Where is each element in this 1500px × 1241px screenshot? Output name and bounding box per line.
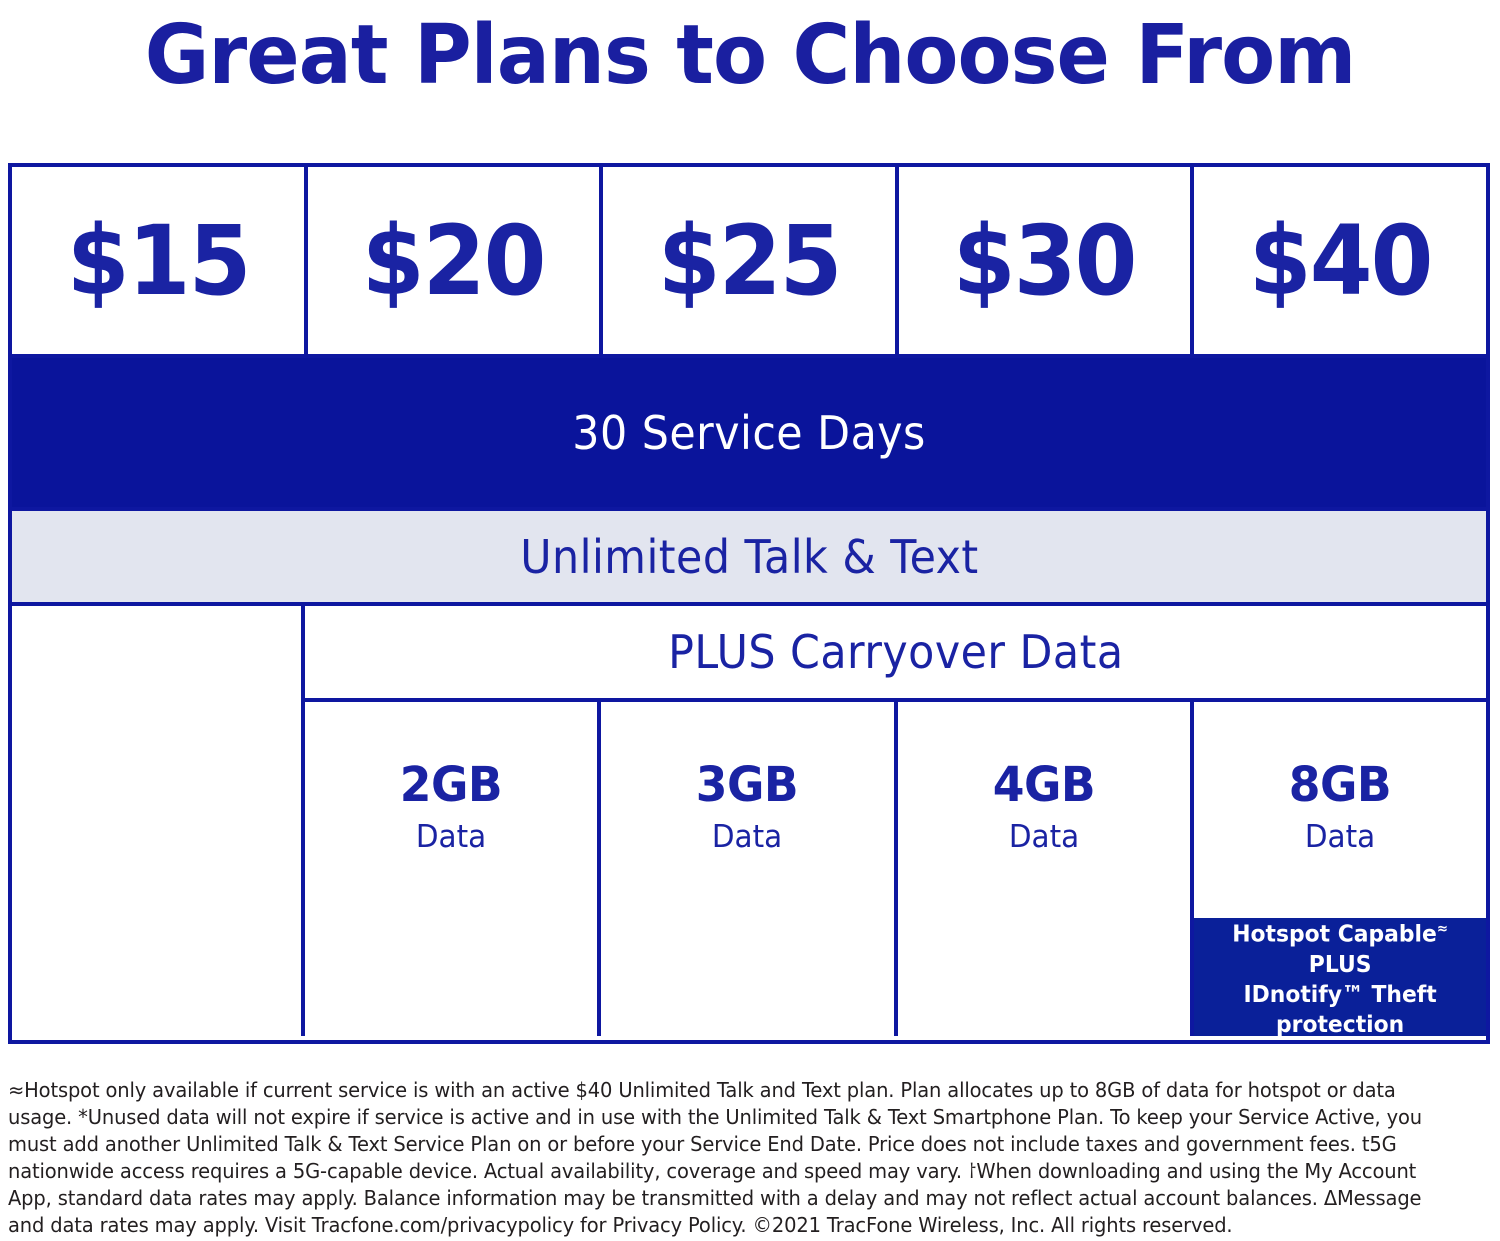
data-amount-row: 2GB Data 3GB Data 4G [305,702,1486,1036]
price-label: $30 [953,213,1136,309]
plan-comparison-page: Great Plans to Choose From $15 $20 $25 $… [0,0,1500,1241]
carryover-area: PLUS Carryover Data 2GB Data 3GB Data [305,606,1486,1036]
hotspot-line1-post: PLUS [1309,952,1372,978]
data-unit-label: Data [712,820,782,854]
data-amount-label: 8GB [1289,760,1391,810]
service-days-label: 30 Service Days [572,407,925,459]
hotspot-line1-pre: Hotspot Capable [1232,922,1437,948]
data-cell-20-plan[interactable]: 2GB Data [305,702,601,1036]
data-cell-content: 8GB Data [1194,702,1486,932]
price-cell-25[interactable]: $25 [603,167,899,354]
carryover-header-row: PLUS Carryover Data [305,606,1486,702]
data-unit-label: Data [1305,820,1375,854]
price-cell-40[interactable]: $40 [1194,167,1486,354]
service-days-row: 30 Service Days [12,358,1486,511]
plans-table: $15 $20 $25 $30 $40 30 Service Days Unli… [8,163,1490,1044]
price-label: $20 [362,213,545,309]
data-cell-filler [601,932,893,1036]
data-cell-content: 3GB Data [601,702,893,932]
data-unit-label: Data [416,820,486,854]
data-cell-filler [305,932,597,1036]
legal-footnote: ≈Hotspot only available if current servi… [8,1077,1434,1239]
hotspot-line2: IDnotify™ Theft protection [1243,982,1436,1038]
price-label: $15 [66,213,249,309]
hotspot-footnote-marker: ≈ [1437,921,1448,937]
price-header-row: $15 $20 $25 $30 $40 [12,167,1486,358]
data-cell-filler [898,932,1190,1036]
price-cell-15[interactable]: $15 [12,167,308,354]
price-label: $25 [658,213,841,309]
data-amount-label: 4GB [992,760,1094,810]
empty-cell-15-plan [12,606,305,1036]
data-cell-30-plan[interactable]: 4GB Data [898,702,1194,1036]
data-unit-label: Data [1008,820,1078,854]
price-cell-30[interactable]: $30 [899,167,1195,354]
page-title: Great Plans to Choose From [30,4,1470,108]
price-cell-20[interactable]: $20 [308,167,604,354]
hotspot-badge: Hotspot Capable≈ PLUSIDnotify™ Theft pro… [1194,918,1486,1036]
data-cell-content: 4GB Data [898,702,1190,932]
unlimited-talk-text-row: Unlimited Talk & Text [12,511,1486,606]
data-cell-content: 2GB Data [305,702,597,932]
data-section: PLUS Carryover Data 2GB Data 3GB Data [12,606,1486,1036]
price-label: $40 [1249,213,1432,309]
hotspot-badge-text: Hotspot Capable≈ PLUSIDnotify™ Theft pro… [1207,914,1473,1040]
data-amount-label: 2GB [400,760,502,810]
data-amount-label: 3GB [696,760,798,810]
data-cell-40-plan[interactable]: 8GB Data Hotspot Capable≈ PLUSIDnotify™ … [1194,702,1486,1036]
unlimited-talk-text-label: Unlimited Talk & Text [520,531,978,583]
data-cell-25-plan[interactable]: 3GB Data [601,702,897,1036]
carryover-header-label: PLUS Carryover Data [668,626,1123,678]
